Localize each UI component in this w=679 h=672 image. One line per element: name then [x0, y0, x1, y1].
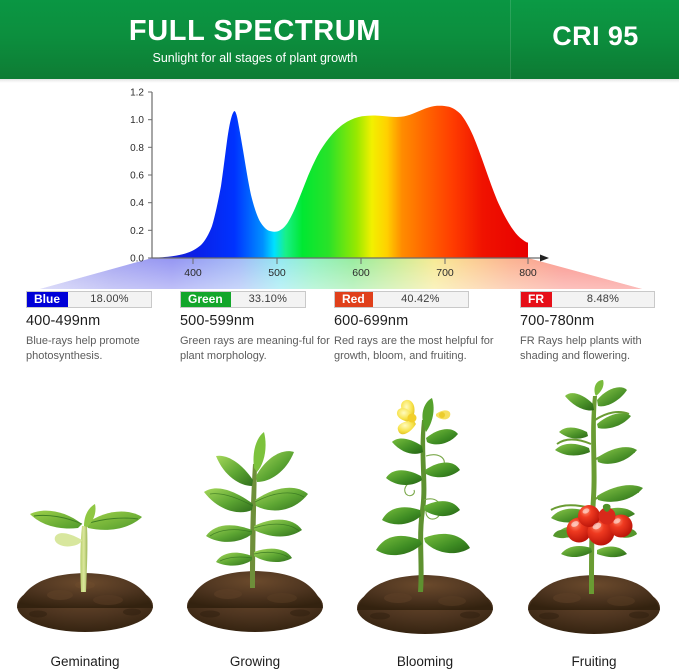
x-axis-arrow-icon	[540, 255, 549, 262]
vegetative-plant-illustration	[170, 380, 340, 642]
y-tick-2: 0.4	[130, 198, 144, 209]
band-green-percent: 33.10%	[231, 292, 305, 307]
x-tick-800: 800	[519, 267, 537, 279]
y-tick-0: 0.0	[130, 254, 144, 265]
band-fr: FR 8.48% 700-780nm FR Rays help plants w…	[520, 291, 679, 364]
header-banner: FULL SPECTRUM Sunlight for all stages of…	[0, 0, 679, 79]
band-green: Green 33.10% 500-599nm Green rays are me…	[180, 291, 348, 364]
growth-stage-row: Geminating	[0, 380, 679, 672]
y-tick-5: 1.0	[130, 115, 144, 126]
band-blue: Blue 18.00% 400-499nm Blue-rays help pro…	[26, 291, 194, 364]
cri-value: CRI 95	[511, 23, 679, 50]
band-fr-name: FR	[521, 292, 552, 307]
flowering-plant-illustration	[340, 380, 510, 642]
band-green-badge: Green 33.10%	[180, 291, 306, 308]
band-green-range: 500-599nm	[180, 314, 348, 330]
x-tick-700: 700	[436, 267, 454, 279]
band-red-description: Red rays are the most helpful for growth…	[334, 334, 496, 364]
band-red: Red 40.42% 600-699nm Red rays are the mo…	[334, 291, 502, 364]
y-tick-4: 0.8	[130, 143, 144, 154]
band-blue-name: Blue	[27, 292, 68, 307]
growth-stage-geminating: Geminating	[0, 380, 170, 672]
growth-stage-growing: Growing	[170, 380, 340, 672]
y-tick-3: 0.6	[130, 171, 144, 182]
band-fr-percent: 8.48%	[552, 292, 654, 307]
page-title: FULL SPECTRUM	[0, 17, 510, 46]
flower-icon	[397, 400, 417, 434]
band-red-name: Red	[335, 292, 373, 307]
spectrum-band-legend: Blue 18.00% 400-499nm Blue-rays help pro…	[0, 291, 679, 371]
band-blue-percent: 18.00%	[68, 292, 151, 307]
y-tick-6: 1.2	[130, 88, 144, 99]
band-green-name: Green	[181, 292, 231, 307]
band-blue-description: Blue-rays help promote photosynthesis.	[26, 334, 176, 364]
flower-bud-icon	[436, 410, 450, 419]
fruiting-plant-illustration	[509, 380, 679, 642]
x-tick-500: 500	[268, 267, 286, 279]
seedling-plant-illustration	[0, 380, 170, 642]
x-tick-600: 600	[352, 267, 370, 279]
band-fr-badge: FR 8.48%	[520, 291, 655, 308]
growth-stage-label-3: Fruiting	[509, 655, 679, 669]
band-fr-description: FR Rays help plants with shading and flo…	[520, 334, 679, 364]
y-axis-tick-labels: 0.0 0.2 0.4 0.6 0.8 1.0 1.2	[130, 88, 144, 265]
band-red-badge: Red 40.42%	[334, 291, 469, 308]
growth-stage-fruiting: Fruiting	[509, 380, 679, 672]
spd-curve	[152, 106, 528, 258]
header-right-panel: CRI 95	[510, 0, 679, 79]
band-green-description: Green rays are meaning-ful for plant mor…	[180, 334, 330, 364]
spectrum-chart: 0.0 0.2 0.4 0.6 0.8 1.0 1.2 400 500 600 …	[0, 86, 679, 291]
growth-stage-label-0: Geminating	[0, 655, 170, 669]
growth-stage-label-2: Blooming	[340, 655, 510, 669]
header-shadow	[0, 79, 679, 83]
header-left-panel: FULL SPECTRUM Sunlight for all stages of…	[0, 0, 510, 79]
growth-stage-blooming: Blooming	[340, 380, 510, 672]
x-tick-400: 400	[184, 267, 202, 279]
band-blue-range: 400-499nm	[26, 314, 194, 330]
page-subtitle: Sunlight for all stages of plant growth	[0, 52, 510, 65]
band-blue-badge: Blue 18.00%	[26, 291, 152, 308]
growth-stage-label-1: Growing	[170, 655, 340, 669]
band-red-range: 600-699nm	[334, 314, 502, 330]
y-tick-1: 0.2	[130, 226, 144, 237]
spectrum-chart-svg: 0.0 0.2 0.4 0.6 0.8 1.0 1.2 400 500 600 …	[0, 86, 679, 291]
band-red-percent: 40.42%	[373, 292, 468, 307]
band-fr-range: 700-780nm	[520, 314, 679, 330]
